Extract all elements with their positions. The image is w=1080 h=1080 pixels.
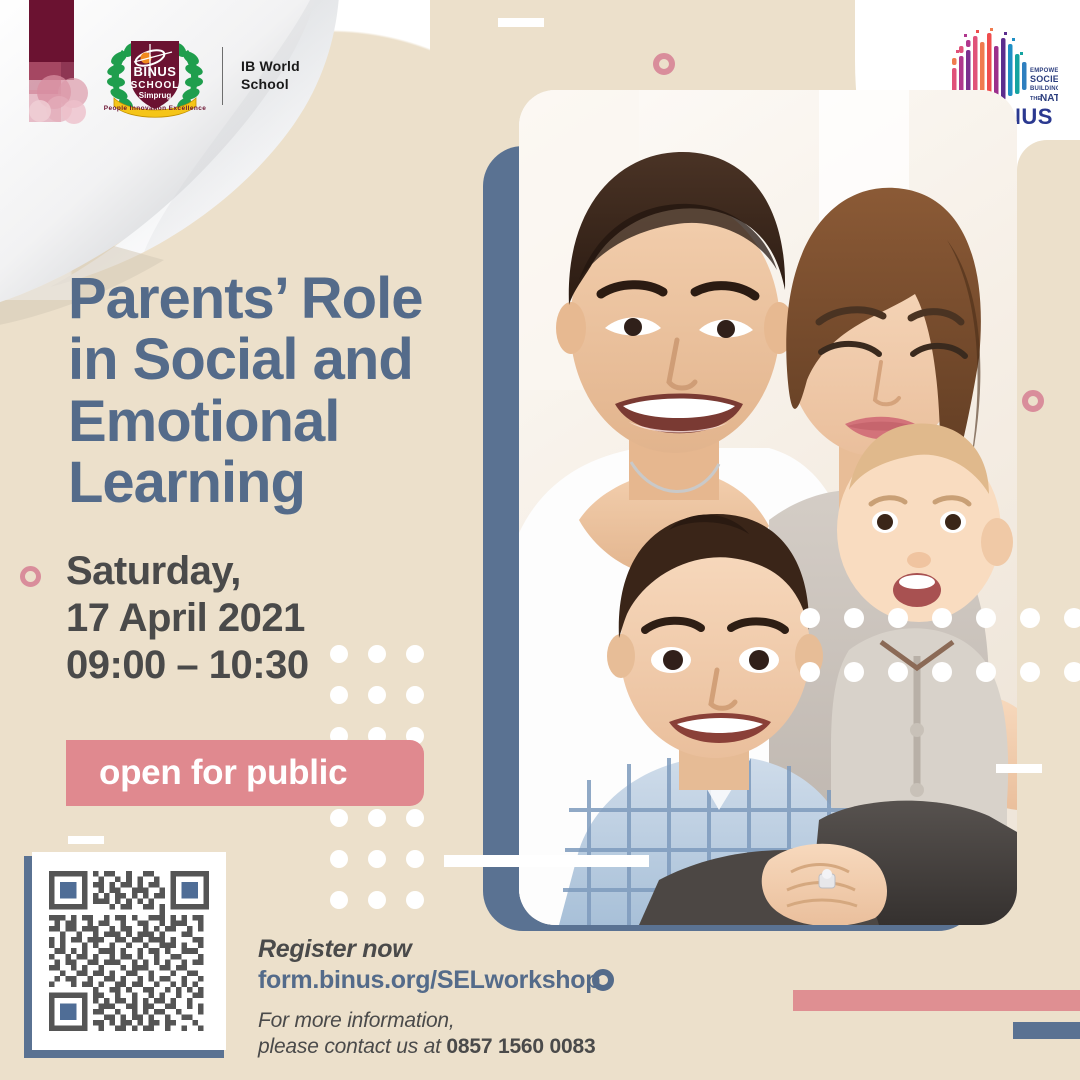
white-bar-middle-left (68, 836, 104, 844)
binus-tagline-5: NATION (1040, 93, 1058, 104)
maroon-bar-decoration (29, 0, 74, 65)
family-photo (519, 90, 1017, 925)
pink-ring-right (1022, 390, 1044, 412)
white-bar-above-photo-base (444, 855, 649, 867)
register-url[interactable]: form.binus.org/SELworkshop (258, 965, 678, 995)
beige-edge-right (1017, 140, 1080, 930)
blue-bar-bottom (1013, 1022, 1080, 1039)
svg-text:People Innovation Excellence: People Innovation Excellence (104, 105, 207, 112)
svg-text:SCHOOL: SCHOOL (131, 80, 180, 91)
contact-info: For more information, please contact us … (258, 1008, 678, 1062)
pink-bar-bottom (793, 990, 1080, 1011)
poster-canvas: BINUS SCHOOL Simprug People Innovation E… (0, 0, 1080, 1080)
pink-circle-5 (29, 100, 51, 122)
contact-phone: 0857 1560 0083 (446, 1035, 595, 1058)
school-crest-icon: BINUS SCHOOL Simprug People Innovation E… (100, 28, 210, 123)
binus-school-logo: BINUS SCHOOL Simprug People Innovation E… (100, 28, 300, 123)
binus-tagline-2: SOCIETY (1030, 74, 1058, 84)
registration-block: Register now form.binus.org/SELworkshop … (258, 936, 678, 1061)
date-bullet-ring-icon (20, 566, 41, 587)
ib-line-1: IB World (241, 58, 300, 76)
pink-circle-4 (62, 100, 86, 124)
logo-divider (222, 47, 223, 105)
page-title: Parents’ Role in Social and Emotional Le… (68, 268, 488, 514)
binus-tagline-3: BUILDING (1030, 86, 1058, 92)
white-bar-top (498, 18, 544, 27)
dot-grid-over-photo (800, 608, 1080, 716)
svg-text:BINUS: BINUS (134, 64, 177, 79)
contact-info-line2-prefix: please contact us at (258, 1035, 446, 1058)
qr-code[interactable] (32, 852, 226, 1050)
ib-line-2: School (241, 76, 300, 94)
register-cta-label: Register now (258, 936, 678, 964)
event-date-time: Saturday, 17 April 2021 09:00 – 10:30 (66, 548, 396, 690)
ib-world-school-label: IB World School (241, 58, 300, 93)
svg-text:Simprug: Simprug (139, 91, 172, 100)
pink-ring-top (653, 53, 675, 75)
contact-info-line1: For more information, (258, 1009, 455, 1032)
status-badge: open for public (66, 740, 424, 806)
white-bar-right (996, 764, 1042, 773)
